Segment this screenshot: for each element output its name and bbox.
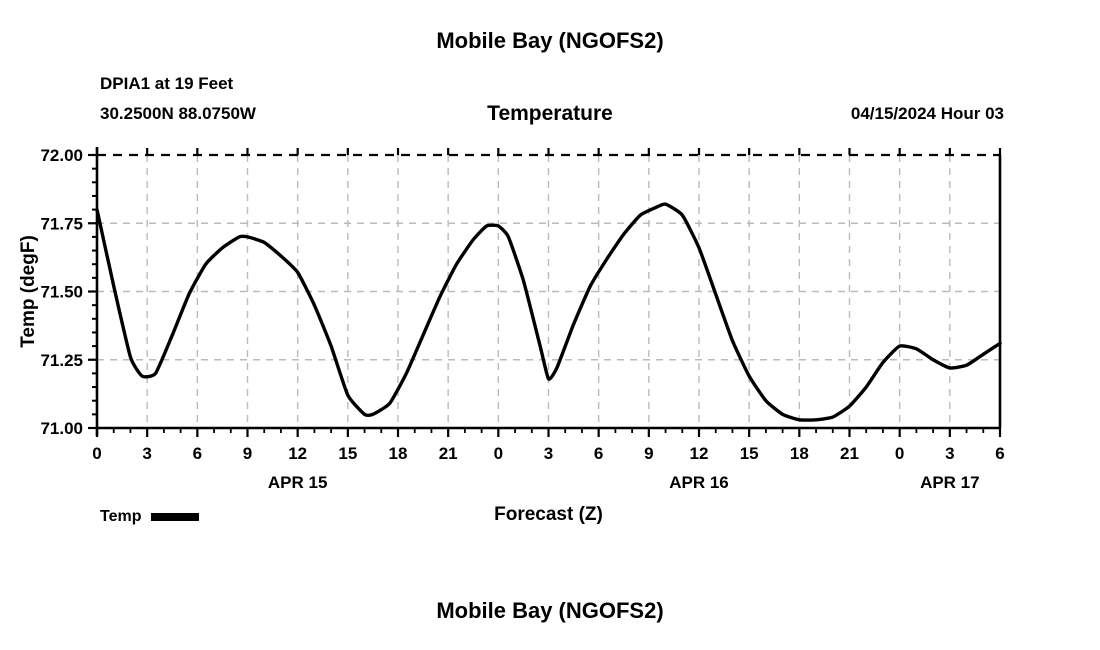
x-tick-label: 3 <box>142 444 151 463</box>
x-tick-label: 12 <box>690 444 709 463</box>
x-tick-label: 18 <box>389 444 408 463</box>
x-axis-day-label: APR 17 <box>920 473 980 492</box>
legend-swatch-temp <box>151 513 199 521</box>
x-tick-label: 15 <box>740 444 759 463</box>
chart-page: Mobile Bay (NGOFS2) DPIA1 at 19 Feet 30.… <box>0 0 1100 650</box>
y-tick-label: 71.00 <box>40 419 83 438</box>
x-tick-label: 6 <box>193 444 202 463</box>
legend: Temp <box>100 508 199 526</box>
x-tick-label: 15 <box>338 444 357 463</box>
y-tick-label: 71.50 <box>40 283 83 302</box>
x-tick-label: 0 <box>92 444 101 463</box>
x-tick-label: 21 <box>840 444 859 463</box>
x-tick-label: 18 <box>790 444 809 463</box>
axis-ticks <box>88 148 1000 437</box>
x-tick-label: 3 <box>544 444 553 463</box>
y-axis-title: Temp (degF) <box>18 235 39 348</box>
x-tick-label: 6 <box>995 444 1004 463</box>
y-tick-label: 71.25 <box>40 351 83 370</box>
x-axis-title: Forecast (Z) <box>494 504 603 525</box>
axis-tick-labels: 71.0071.2571.5071.7572.00036912151821036… <box>40 146 1004 492</box>
legend-label-temp: Temp <box>100 508 141 526</box>
x-axis-day-label: APR 15 <box>268 473 328 492</box>
x-tick-label: 9 <box>243 444 252 463</box>
temperature-line-chart: 71.0071.2571.5071.7572.00036912151821036… <box>0 0 1100 560</box>
y-tick-label: 72.00 <box>40 146 83 165</box>
x-tick-label: 12 <box>288 444 307 463</box>
x-tick-label: 0 <box>895 444 904 463</box>
y-tick-label: 71.75 <box>40 214 83 233</box>
page-title-bottom: Mobile Bay (NGOFS2) <box>0 598 1100 624</box>
x-tick-label: 3 <box>945 444 954 463</box>
x-tick-label: 0 <box>494 444 503 463</box>
x-tick-label: 9 <box>644 444 653 463</box>
x-tick-label: 21 <box>439 444 458 463</box>
x-axis-day-label: APR 16 <box>669 473 729 492</box>
x-tick-label: 6 <box>594 444 603 463</box>
